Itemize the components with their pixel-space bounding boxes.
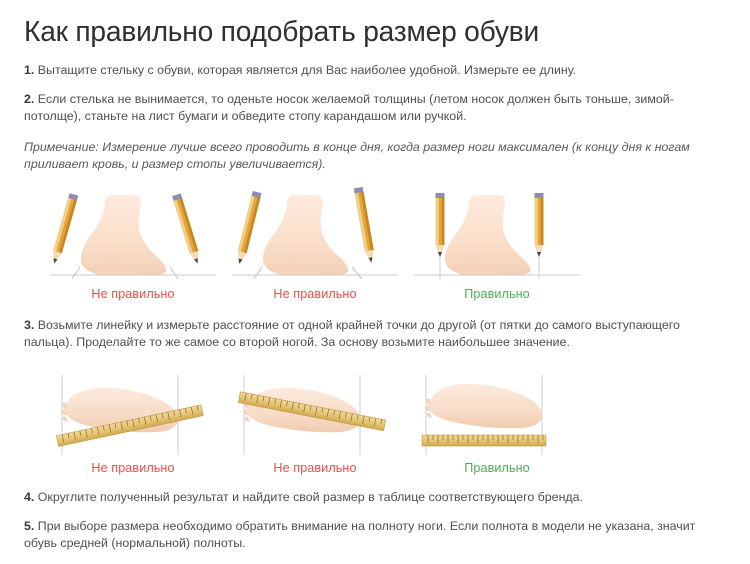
- illustration-cell-ruler-wrong-2: Не правильно: [224, 369, 406, 477]
- step-4-number: 4.: [24, 490, 34, 504]
- caption-pencil-correct: Правильно: [406, 288, 588, 301]
- foot-top-ruler-straight-icon: [406, 369, 588, 461]
- step-4-text: Округлите полученный результат и найдите…: [34, 490, 583, 504]
- step-2-number: 2.: [24, 92, 34, 106]
- foot-side-pencil-vertical-icon: [406, 187, 588, 279]
- step-3-number: 3.: [24, 318, 34, 332]
- step-5-text: При выборе размера необходимо обратить в…: [24, 519, 695, 550]
- step-2-text: Если стелька не вынимается, то оденьте н…: [24, 92, 674, 123]
- foot-side-pencil-tilted-inward-icon: [42, 187, 224, 279]
- caption-pencil-wrong-1: Не правильно: [42, 288, 224, 301]
- step-4-paragraph: 4. Округлите полученный результат и найд…: [24, 477, 724, 506]
- caption-ruler-correct: Правильно: [406, 462, 588, 475]
- caption-ruler-wrong-1: Не правильно: [42, 462, 224, 475]
- step-5-number: 5.: [24, 519, 34, 533]
- note-paragraph: Примечание: Измерение лучше всего провод…: [24, 126, 714, 173]
- step-5-paragraph: 5. При выборе размера необходимо обратит…: [24, 506, 724, 552]
- foot-top-ruler-diagonal-up-icon: [42, 369, 224, 461]
- tracing-with-pencil-examples: Не правильно: [24, 187, 726, 305]
- step-1-paragraph: 1. Вытащите стельку с обуви, которая явл…: [24, 50, 724, 79]
- illustration-cell-ruler-correct: Правильно: [406, 369, 588, 477]
- illustration-cell-pencil-wrong-2: Не правильно: [224, 187, 406, 305]
- shoe-size-guide-page: Как правильно подобрать размер обуви 1. …: [0, 0, 750, 564]
- illustration-cell-pencil-wrong-1: Не правильно: [42, 187, 224, 305]
- illustration-cell-pencil-correct: Правильно: [406, 187, 588, 305]
- step-2-paragraph: 2. Если стелька не вынимается, то оденьт…: [24, 79, 724, 125]
- caption-ruler-wrong-2: Не правильно: [224, 462, 406, 475]
- foot-side-pencil-tilted-outward-icon: [224, 187, 406, 279]
- step-3-text: Возьмите линейку и измерьте расстояние о…: [24, 318, 680, 349]
- caption-pencil-wrong-2: Не правильно: [224, 288, 406, 301]
- measuring-with-ruler-examples: Не правильно: [24, 369, 726, 477]
- step-1-number: 1.: [24, 63, 34, 77]
- step-3-paragraph: 3. Возьмите линейку и измерьте расстояни…: [24, 305, 724, 351]
- page-title: Как правильно подобрать размер обуви: [24, 0, 705, 50]
- foot-top-ruler-diagonal-down-icon: [224, 369, 406, 461]
- step-1-text: Вытащите стельку с обуви, которая являет…: [34, 63, 576, 77]
- illustration-cell-ruler-wrong-1: Не правильно: [42, 369, 224, 477]
